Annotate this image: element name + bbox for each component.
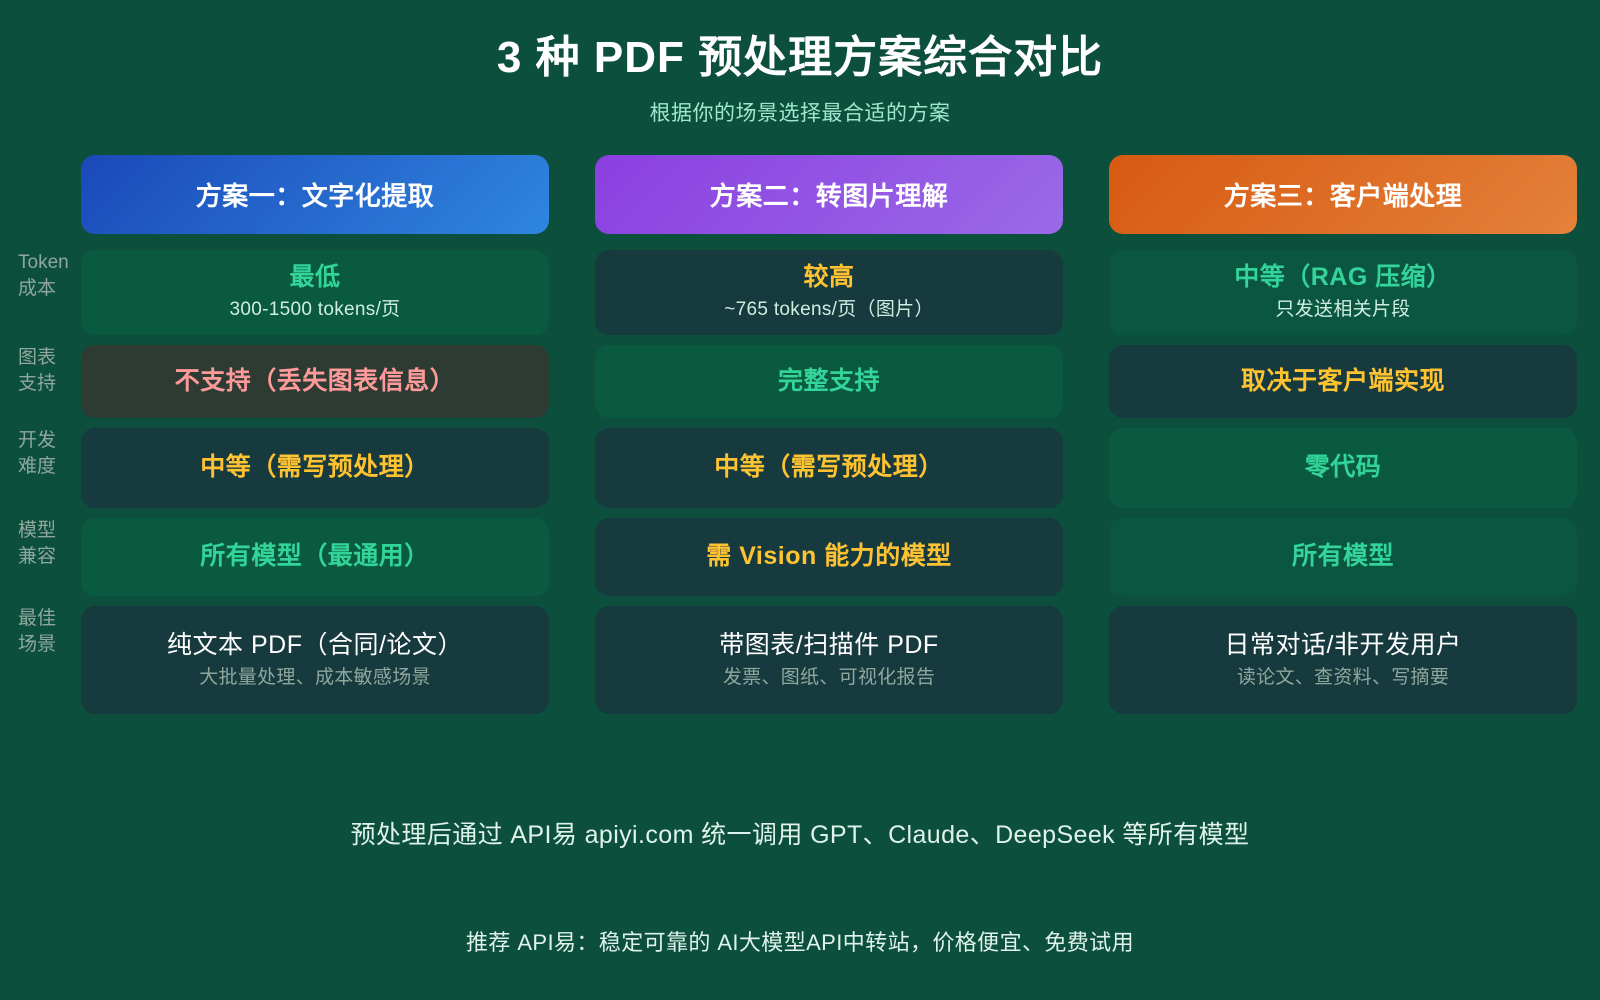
data-cell: 完整支持 (595, 345, 1063, 418)
cell-main-text: 零代码 (1305, 452, 1382, 483)
data-cell: 中等（需写预处理） (81, 428, 549, 508)
cell-wrap: 中等（需写预处理） (572, 428, 1086, 508)
cell-wrap: 零代码 (1086, 428, 1600, 508)
cell-sub-text: 只发送相关片段 (1275, 298, 1410, 323)
cell-wrap: 所有模型（最通用） (58, 518, 572, 596)
cell-main-text: 纯文本 PDF（合同/论文） (167, 630, 463, 661)
column-header-cell-3: 方案三：客户端处理 (1086, 155, 1600, 240)
page-subtitle: 根据你的场景选择最合适的方案 (0, 97, 1600, 127)
cell-wrap: 取决于客户端实现 (1086, 345, 1600, 418)
footer-note-text: 推荐 API易：稳定可靠的 AI大模型API中转站，价格便宜、免费试用 (0, 925, 1600, 957)
data-cell: 最低 300-1500 tokens/页 (81, 250, 549, 335)
comparison-grid: 方案一：文字化提取 方案二：转图片理解 方案三：客户端处理 Token 成本 最… (0, 155, 1600, 714)
cell-main-text: 中等（需写预处理） (714, 452, 944, 483)
cell-main-text: 不支持（丢失图表信息） (175, 366, 456, 397)
cell-main-text: 带图表/扫描件 PDF (719, 630, 938, 661)
data-cell: 取决于客户端实现 (1109, 345, 1577, 418)
data-cell: 中等（需写预处理） (595, 428, 1063, 508)
cell-sub-text: 大批量处理、成本敏感场景 (199, 666, 431, 691)
page-title: 3 种 PDF 预处理方案综合对比 (0, 0, 1600, 85)
table-row: 图表 支持 不支持（丢失图表信息） 完整支持 取决于客户端实现 (0, 345, 1600, 418)
cell-main-text: 所有模型 (1292, 541, 1394, 572)
cell-wrap: 日常对话/非开发用户 读论文、查资料、写摘要 (1086, 606, 1600, 714)
data-cell: 纯文本 PDF（合同/论文） 大批量处理、成本敏感场景 (81, 606, 549, 714)
table-row: Token 成本 最低 300-1500 tokens/页 较高 ~765 to… (0, 250, 1600, 335)
cell-wrap: 需 Vision 能力的模型 (572, 518, 1086, 596)
cell-wrap: 所有模型 (1086, 518, 1600, 596)
label-column-spacer (0, 155, 58, 240)
data-cell: 带图表/扫描件 PDF 发票、图纸、可视化报告 (595, 606, 1063, 714)
cell-main-text: 中等（RAG 压缩） (1234, 262, 1452, 293)
column-header-cell-1: 方案一：文字化提取 (58, 155, 572, 240)
cell-main-text: 中等（需写预处理） (200, 452, 430, 483)
cell-wrap: 中等（需写预处理） (58, 428, 572, 508)
column-header-3[interactable]: 方案三：客户端处理 (1109, 155, 1577, 234)
table-row: 模型 兼容 所有模型（最通用） 需 Vision 能力的模型 所有模型 (0, 518, 1600, 596)
footer-main-text: 预处理后通过 API易 apiyi.com 统一调用 GPT、Claude、De… (0, 815, 1600, 851)
data-cell: 中等（RAG 压缩） 只发送相关片段 (1109, 250, 1577, 335)
column-header-1[interactable]: 方案一：文字化提取 (81, 155, 549, 234)
comparison-infographic: 3 种 PDF 预处理方案综合对比 根据你的场景选择最合适的方案 方案一：文字化… (0, 0, 1600, 1000)
data-cell: 较高 ~765 tokens/页（图片） (595, 250, 1063, 335)
cell-main-text: 取决于客户端实现 (1241, 366, 1445, 397)
cell-main-text: 所有模型（最通用） (200, 541, 430, 572)
table-row: 最佳 场景 纯文本 PDF（合同/论文） 大批量处理、成本敏感场景 带图表/扫描… (0, 606, 1600, 714)
cell-sub-text: 发票、图纸、可视化报告 (723, 666, 935, 691)
data-cell: 零代码 (1109, 428, 1577, 508)
column-header-2[interactable]: 方案二：转图片理解 (595, 155, 1063, 234)
data-cell: 所有模型（最通用） (81, 518, 549, 596)
cell-wrap: 中等（RAG 压缩） 只发送相关片段 (1086, 250, 1600, 335)
cell-wrap: 完整支持 (572, 345, 1086, 418)
cell-wrap: 纯文本 PDF（合同/论文） 大批量处理、成本敏感场景 (58, 606, 572, 714)
cell-main-text: 需 Vision 能力的模型 (706, 541, 951, 572)
cell-wrap: 最低 300-1500 tokens/页 (58, 250, 572, 335)
cell-sub-text: 读论文、查资料、写摘要 (1237, 666, 1449, 691)
cell-wrap: 较高 ~765 tokens/页（图片） (572, 250, 1086, 335)
cell-main-text: 完整支持 (778, 366, 880, 397)
column-header-row: 方案一：文字化提取 方案二：转图片理解 方案三：客户端处理 (0, 155, 1600, 240)
data-cell: 不支持（丢失图表信息） (81, 345, 549, 418)
table-row: 开发 难度 中等（需写预处理） 中等（需写预处理） 零代码 (0, 428, 1600, 508)
data-cell: 需 Vision 能力的模型 (595, 518, 1063, 596)
data-cell: 日常对话/非开发用户 读论文、查资料、写摘要 (1109, 606, 1577, 714)
cell-sub-text: ~765 tokens/页（图片） (724, 298, 933, 323)
cell-wrap: 不支持（丢失图表信息） (58, 345, 572, 418)
cell-wrap: 带图表/扫描件 PDF 发票、图纸、可视化报告 (572, 606, 1086, 714)
cell-main-text: 较高 (803, 262, 854, 293)
cell-main-text: 最低 (289, 262, 340, 293)
column-header-cell-2: 方案二：转图片理解 (572, 155, 1086, 240)
data-cell: 所有模型 (1109, 518, 1577, 596)
cell-main-text: 日常对话/非开发用户 (1225, 630, 1462, 661)
cell-sub-text: 300-1500 tokens/页 (230, 298, 401, 323)
